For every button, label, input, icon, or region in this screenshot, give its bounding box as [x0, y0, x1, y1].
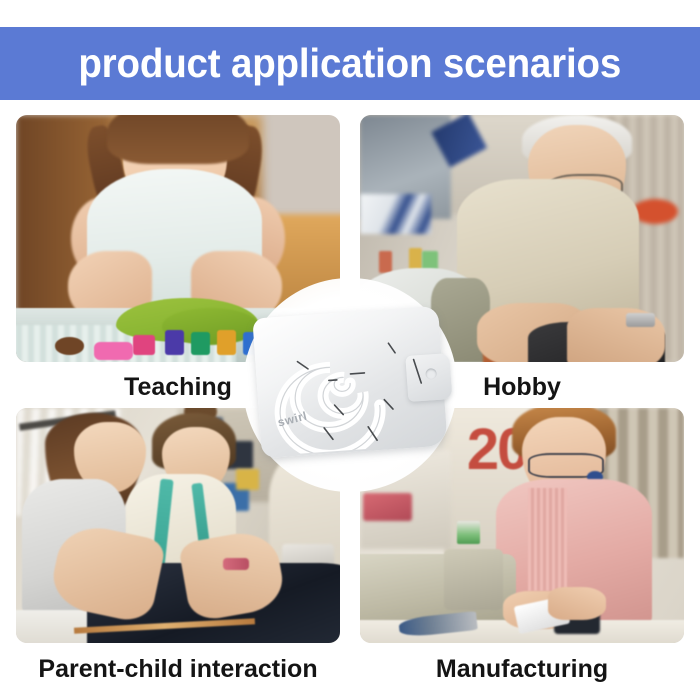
red-stool [632, 199, 677, 224]
scenario-caption-parent-child: Parent-child interaction [16, 643, 340, 682]
scenario-photo-hobby [360, 115, 684, 362]
thread-spool-purple [165, 330, 184, 355]
scenario-card-manufacturing[interactable]: 20 Manufacturing [360, 408, 684, 682]
scenario-caption-manufacturing: Manufacturing [360, 643, 684, 682]
page-title: product application scenarios [79, 43, 622, 84]
wristwatch [626, 313, 655, 328]
machine-arm [444, 549, 502, 610]
scenario-card-teaching[interactable]: Teaching [16, 115, 340, 400]
wooden-hoop [55, 337, 84, 354]
scenario-caption-teaching: Teaching [16, 362, 340, 400]
girl-hair [107, 115, 250, 164]
thread-spool-blue [243, 332, 262, 354]
blouse-placket [528, 488, 567, 591]
thread-spool-pink [133, 335, 156, 355]
woman-hand-right [548, 587, 606, 620]
folded-fabric-stack [360, 194, 431, 234]
thread-spool-yellow [217, 330, 236, 355]
scenario-caption-hobby: Hobby [360, 362, 684, 400]
header-banner: product application scenarios [0, 27, 700, 100]
thread-spool-green [457, 521, 480, 545]
scenario-photo-teaching [16, 115, 340, 362]
scenario-grid: Teaching [16, 115, 684, 685]
scenario-card-hobby[interactable]: Hobby [360, 115, 684, 400]
storage-box-4 [236, 469, 259, 490]
thread-spool-red [379, 251, 392, 273]
scenario-photo-manufacturing: 20 [360, 408, 684, 643]
product-scenarios-page: product application scenarios [0, 0, 700, 700]
thread-spool-green [191, 332, 210, 354]
pink-eraser [94, 342, 133, 359]
teal-clip [262, 340, 291, 355]
scenario-card-parent-child[interactable]: Parent-child interaction [16, 408, 340, 682]
bracelet [223, 558, 249, 570]
fabric-bundle-pink [363, 493, 412, 521]
scenario-photo-parent-child [16, 408, 340, 643]
